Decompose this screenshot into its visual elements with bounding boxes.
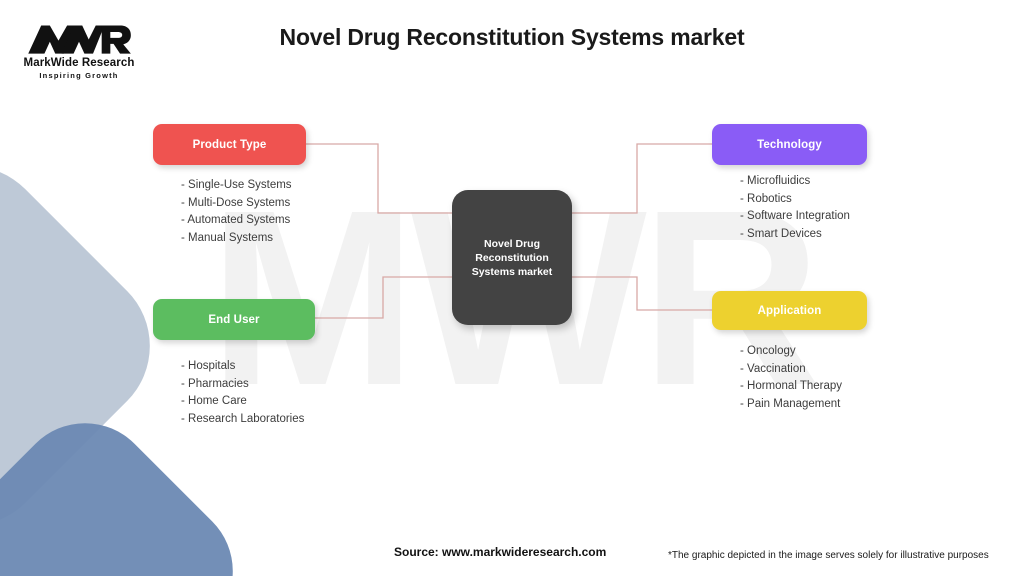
branch-items-end-user: - Hospitals - Pharmacies - Home Care - R… [181, 358, 304, 428]
center-node[interactable]: Novel DrugReconstitutionSystems market [452, 190, 572, 325]
list-item: - Smart Devices [740, 226, 850, 244]
connector-end-user [315, 277, 452, 318]
branch-items-product-type: - Single-Use Systems - Multi-Dose System… [181, 177, 292, 247]
list-item: - Hormonal Therapy [740, 378, 842, 396]
branch-node-product-type[interactable]: Product Type [153, 124, 306, 165]
branch-node-end-user[interactable]: End User [153, 299, 315, 340]
footer-source: Source: www.markwideresearch.com [394, 545, 606, 559]
list-item: - Multi-Dose Systems [181, 195, 292, 213]
list-item: - Home Care [181, 393, 304, 411]
list-item: - Software Integration [740, 208, 850, 226]
center-node-label: Novel DrugReconstitutionSystems market [472, 237, 553, 279]
list-item: - Hospitals [181, 358, 304, 376]
list-item: - Manual Systems [181, 230, 292, 248]
infographic-canvas: MWR MarkWide Research Inspiring Growth N… [0, 0, 1024, 576]
footer-disclaimer: *The graphic depicted in the image serve… [668, 550, 989, 561]
list-item: - Oncology [740, 343, 842, 361]
list-item: - Pain Management [740, 396, 842, 414]
list-item: - Microfluidics [740, 173, 850, 191]
list-item: - Single-Use Systems [181, 177, 292, 195]
branch-items-technology: - Microfluidics - Robotics - Software In… [740, 173, 850, 243]
branch-label-product-type: Product Type [193, 139, 267, 151]
branch-label-application: Application [758, 305, 822, 317]
list-item: - Pharmacies [181, 376, 304, 394]
list-item: - Automated Systems [181, 212, 292, 230]
list-item: - Robotics [740, 191, 850, 209]
branch-label-end-user: End User [208, 314, 259, 326]
list-item: - Vaccination [740, 361, 842, 379]
connector-application [572, 277, 712, 310]
branch-node-technology[interactable]: Technology [712, 124, 867, 165]
list-item: - Research Laboratories [181, 411, 304, 429]
branch-label-technology: Technology [757, 139, 822, 151]
connector-technology [572, 144, 712, 213]
connector-product-type [306, 144, 452, 213]
branch-node-application[interactable]: Application [712, 291, 867, 330]
branch-items-application: - Oncology - Vaccination - Hormonal Ther… [740, 343, 842, 413]
